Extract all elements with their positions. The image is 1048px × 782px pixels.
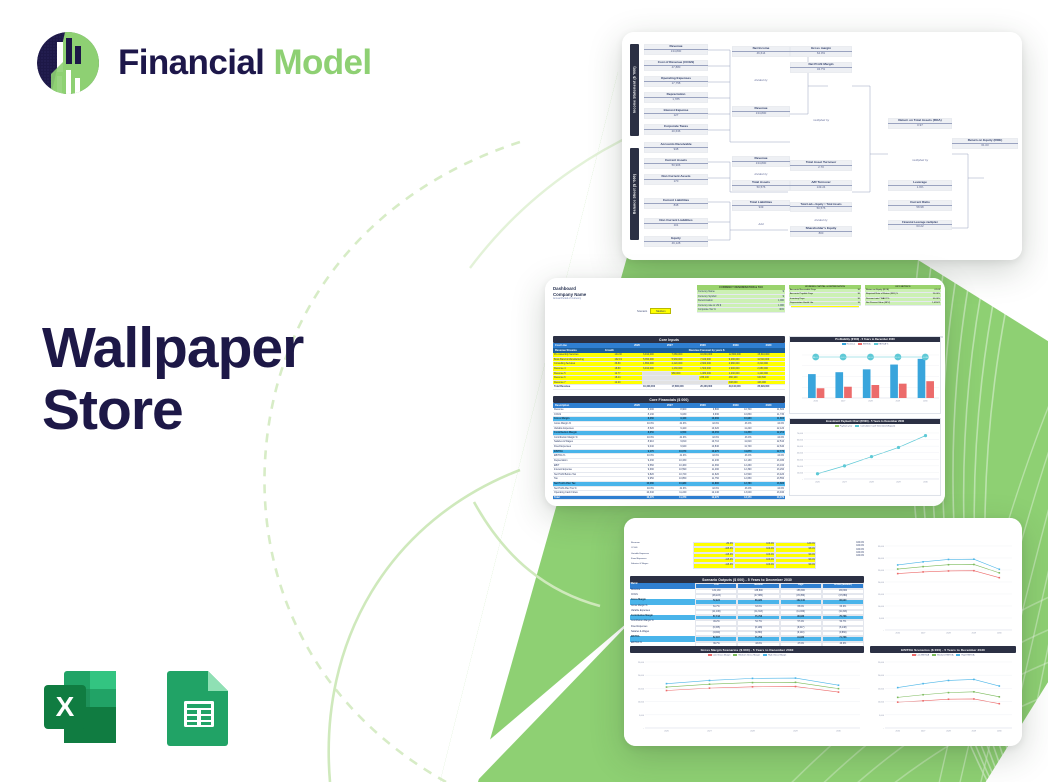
svg-text:5,000: 5,000 [639,715,645,717]
svg-text:X: X [56,691,75,722]
working-capital-panel: WORKING CAPITAL & DEPRECIATION Accounts … [789,285,861,306]
svg-text:2026: 2026 [895,633,900,635]
dp-node-gross-margin: Gross margin64.0% [790,46,852,57]
svg-text:25,000: 25,000 [878,662,885,664]
svg-text:5,000: 5,000 [879,715,885,717]
dp-input-noncurrent-assets: Non Current Assets170 [644,174,708,185]
svg-text:-: - [883,630,884,632]
brand-logo: Financial Model [35,30,372,96]
dp-op-multiplied-1: multiplied by [790,118,852,122]
dashboard-subtitle: Annual Period of Currency [553,297,586,300]
dashboard-right-column: WORKING CAPITAL & DEPRECIATION Accounts … [789,278,945,506]
scenario-toggle-value[interactable]: Medium [650,308,671,314]
svg-text:2027: 2027 [921,633,926,635]
svg-text:2027: 2027 [841,400,846,402]
logo-mark-icon [35,30,101,96]
scenario-assumptions: Revenue-80.0%100.0%120.0%COGS-105.0%100.… [630,542,816,569]
dp-input-interest: Interest Expense127 [644,108,708,119]
revenue-scenarios-chart[interactable]: 35,00030,00025,00020,00015,00010,0005,00… [870,542,1016,638]
svg-text:20,000: 20,000 [878,675,885,677]
dp-node-financial-leverage: Financial Leverage multiplier63.22 [888,220,952,230]
svg-text:2028: 2028 [946,633,951,635]
ebitda-scenarios-chart[interactable]: EBITDA Scenarios ($ 000) - 5 Years to De… [870,646,1016,736]
dp-node-leverage: Leverage1.9% [888,180,952,191]
svg-text:10,000: 10,000 [797,472,804,474]
dp-node-total-asset-turnover: Total Asset Turnover2.70 [790,160,852,171]
svg-text:30,000: 30,000 [797,459,804,461]
currency-panel: CURRENCY DENOMINATION & TAX Currency Nam… [697,285,785,313]
svg-text:2030: 2030 [923,400,928,402]
svg-text:15,000: 15,000 [638,688,645,690]
svg-text:44.0%: 44.0% [813,357,819,359]
svg-text:2028: 2028 [868,400,873,402]
microsoft-excel-icon[interactable]: X [36,663,124,751]
svg-text:10,000: 10,000 [878,701,885,703]
core-inputs-section: Core Inputs Cost Line 2026 2027 2028 202… [553,336,785,390]
svg-text:70,000: 70,000 [797,433,804,435]
page-title-line1: Wallpaper [42,318,303,380]
dp-input-current-liabilities: Current Liabilities848 [644,198,708,209]
svg-text:25,000: 25,000 [878,570,885,572]
svg-text:2029: 2029 [972,730,977,732]
svg-text:20,000: 20,000 [638,675,645,677]
financial-dashboard-card[interactable]: Dashboard Company Name Annual Period of … [545,278,945,506]
svg-text:25,000: 25,000 [638,662,645,664]
svg-text:2026: 2026 [813,400,818,402]
table-row: 100.0% [820,555,864,558]
dp-node-total-assets: Total Assets50,576 [732,180,790,191]
table-row-total: Total Revenue16,400,00017,800,00020,400,… [553,385,785,390]
dp-node-revenue-2: Revenue134,800 [732,156,790,167]
svg-text:-: - [802,479,803,481]
scenario-toggle-label: Scenario [637,310,647,313]
table-row: Salaries & Wages-115.0%100.0%90.0% [630,563,816,568]
svg-text:30,000: 30,000 [878,558,885,560]
core-financials-title: Core Financials ($ 000) [553,396,785,403]
core-financials-rows: Revenue8,0008,9009,80010,70011,600COGS8,… [553,408,785,500]
svg-text:2027: 2027 [707,730,712,732]
core-inputs-title: Core Inputs [553,336,785,343]
dp-op-divided-1: divided by [732,78,790,82]
dp-op-multiplied-2: multiplied by [888,158,952,162]
svg-text:20,000: 20,000 [878,582,885,584]
core-financials-section: Core Financials ($ 000) Description 2026… [553,396,785,500]
svg-text:2027: 2027 [842,481,847,483]
core-inputs-rows: Pre Assembly Services144.306,910,0007,68… [553,353,785,390]
dp-input-equity: Equity49,128 [644,236,708,247]
dp-node-shareholders-equity: Shareholder's Equity800 [790,226,852,237]
page-title: Wallpaper Store [42,318,303,441]
investment-payback-chart[interactable]: Investment Payback Chart ($'000) - 5 Yea… [789,418,941,496]
dupont-analysis-card[interactable]: Income Statement ($ '000) Balance Sheet … [622,32,1022,260]
app-icons: X [36,663,240,751]
brand-name-part2: Model [273,43,371,82]
svg-text:2026: 2026 [815,481,820,483]
svg-text:2030: 2030 [997,730,1002,732]
scenario-active-column: 100.0%100.0%100.0%100.0%100.0% [820,542,864,559]
scenario-outputs-table: Scenario Outputs ($ 000) - 5 Years to De… [630,576,864,647]
dashboard-header: Dashboard Company Name Annual Period of … [553,286,586,300]
dp-node-ar-turnover: A/R Turnover149.24 [790,180,852,191]
svg-text:2028: 2028 [946,730,951,732]
key-metrics-panel: KEY METRICS Return on Equity (ROE)61.03 … [865,285,941,306]
dupont-sheet: Income Statement ($ '000) Balance Sheet … [622,32,1022,260]
svg-text:10,000: 10,000 [878,606,885,608]
dp-input-noncurrent-liabilities: Non Current Liabilities101 [644,218,708,229]
scenario-outputs-card[interactable]: Revenue-80.0%100.0%120.0%COGS-105.0%100.… [624,518,1022,746]
brand-name-part1: Financial [118,43,264,82]
brand-name: Financial Model [118,43,372,83]
dp-node-revenue-1: Revenue134,800 [732,106,790,117]
svg-text:60,000: 60,000 [797,439,804,441]
svg-text:2030: 2030 [997,633,1002,635]
svg-text:2027: 2027 [921,730,926,732]
page-title-line2: Store [42,380,303,442]
profitability-chart[interactable]: Profitability ($'000) - 5 Years to Decem… [789,336,941,414]
svg-text:2030: 2030 [923,481,928,483]
dp-op-divided-2: divided by [732,172,790,176]
svg-text:-: - [643,728,644,730]
dp-input-revenue: Revenue134,800 [644,44,708,55]
dp-input-opex: Operating Expenses17,758 [644,76,708,87]
dp-op-add: Add [732,222,790,226]
svg-text:5,000: 5,000 [879,618,885,620]
svg-text:44.5%: 44.5% [868,357,874,359]
scenario-sheet: Revenue-80.0%100.0%120.0%COGS-105.0%100.… [624,518,1022,746]
dp-input-current-assets: Current Assets50,906 [644,158,708,169]
svg-text:2028: 2028 [869,481,874,483]
dp-node-total-liabilities: Total Liabilities949 [732,200,790,211]
svg-text:15,000: 15,000 [878,594,885,596]
svg-text:15,000: 15,000 [878,688,885,690]
svg-text:50,000: 50,000 [797,446,804,448]
svg-text:2029: 2029 [896,400,901,402]
svg-text:40,000: 40,000 [797,453,804,455]
svg-text:10,000: 10,000 [638,701,645,703]
svg-text:43.2%: 43.2% [840,357,846,359]
svg-text:20,000: 20,000 [797,466,804,468]
dp-input-taxes: Corporate Taxes20,636 [644,124,708,135]
currency-panel-rows: Currency Name$ Currency Symbol$ Denomina… [697,290,785,313]
svg-text:35,000: 35,000 [878,546,885,548]
svg-text:2026: 2026 [664,730,669,732]
dp-op-divided-3: divided by [790,218,852,222]
wallpaper-canvas: Financial Model Wallpaper Store X [0,0,1048,782]
svg-text:2026: 2026 [895,730,900,732]
svg-text:43.9%: 43.9% [895,357,901,359]
dp-node-roa: Return on Total Assets (ROA)0.97 [888,118,952,129]
dp-input-ar: Accounts Receivable948 [644,142,708,153]
dp-input-cogs: Cost of Revenue (COGS)47,880 [644,60,708,71]
gross-margin-scenarios-chart[interactable]: Gross Margin Scenarios ($ 000) - 5 Years… [630,646,864,736]
table-row: Total10,47011,37012,27013,17014,070 [553,496,785,501]
svg-text:-: - [883,728,884,730]
svg-text:2029: 2029 [972,633,977,635]
google-sheets-icon[interactable] [152,663,240,751]
dp-node-current-ratio: Current Ratio58.98 [888,200,952,211]
scenario-toggle[interactable]: Scenario Medium [637,308,671,314]
dp-input-depreciation: Depreciation1,785 [644,92,708,103]
svg-text:2028: 2028 [750,730,755,732]
scenario-table-title: Scenario Outputs ($ 000) - 5 Years to De… [630,576,864,583]
svg-text:2029: 2029 [793,730,798,732]
dp-node-net-income: Net Income46,614 [732,46,790,57]
dp-node-liab-equity-assets: Total Liab + Equity = Total Assets50,576 [790,202,852,212]
svg-text:2030: 2030 [836,730,841,732]
dp-node-net-profit-margin: Net Profit Margin34.7% [790,62,852,73]
svg-text:43.0%: 43.0% [923,357,929,359]
svg-text:2029: 2029 [896,481,901,483]
dp-node-roe: Return on Equity (ROE)61.03 [952,138,1018,149]
